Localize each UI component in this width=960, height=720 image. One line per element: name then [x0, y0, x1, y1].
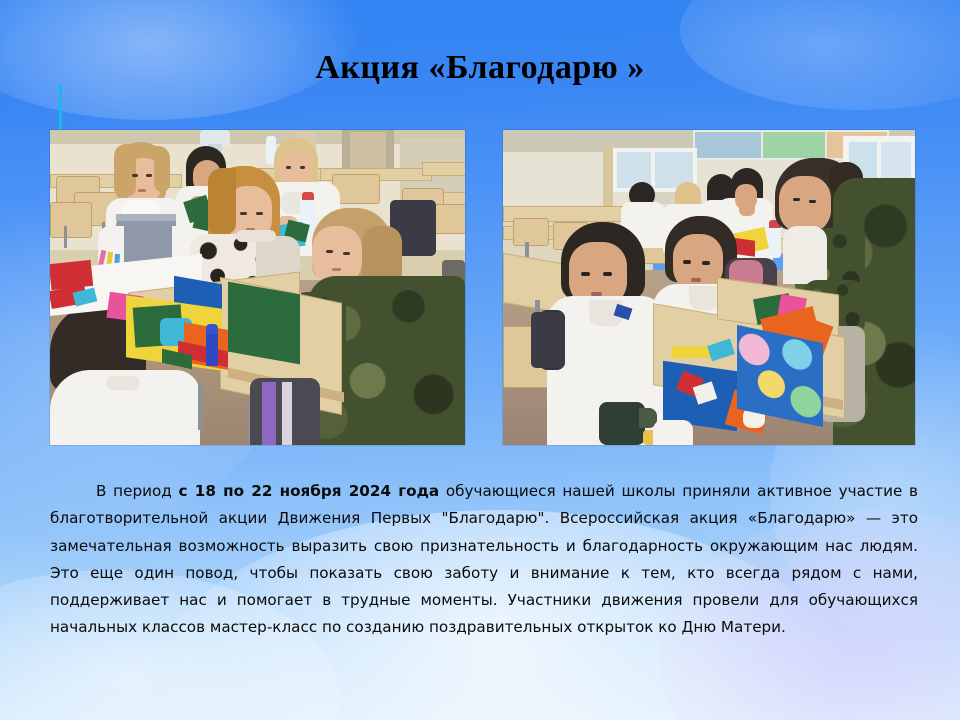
page-title: Акция «Благодарю » [0, 48, 960, 88]
slide: Акция «Благодарю » [0, 0, 960, 720]
photo-right-scene [503, 130, 915, 445]
photo-right [503, 130, 915, 445]
photo-left [50, 130, 465, 445]
accent-bar [59, 84, 62, 131]
paragraph-lead: В период [96, 482, 179, 500]
paragraph-dates: с 18 по 22 ноября 2024 года [179, 482, 440, 500]
body-paragraph: В период с 18 по 22 ноября 2024 года обу… [50, 478, 918, 642]
paragraph-rest: обучающиеся нашей школы приняли активное… [50, 482, 918, 636]
photo-left-scene [50, 130, 465, 445]
